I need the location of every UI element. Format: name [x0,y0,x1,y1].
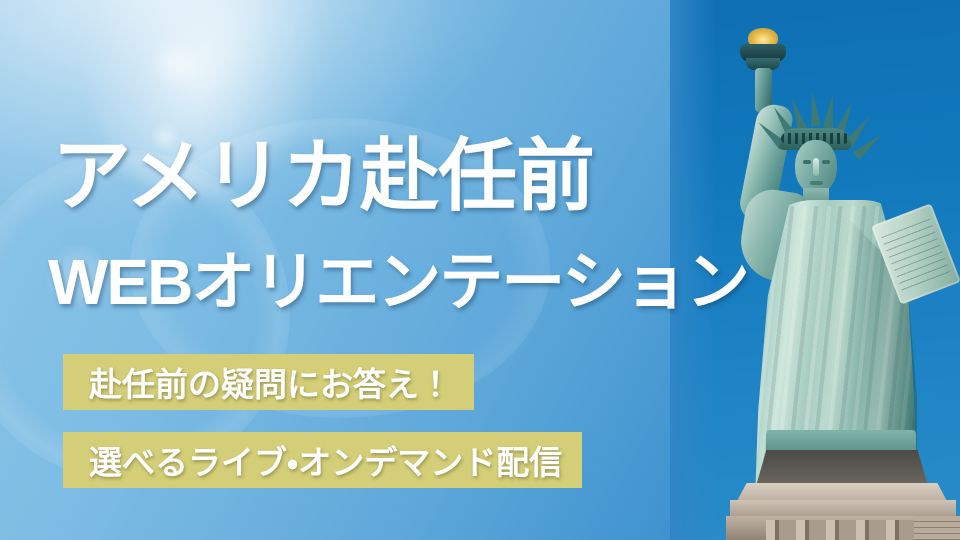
crown-spike-4 [807,92,820,127]
feature-badge-question: 赴任前の疑問にお答え！ [63,354,474,410]
page-subtitle: WEBオリエンテーション [48,250,748,314]
statue-mouth [810,181,823,185]
pedestal-green-base [766,430,916,452]
statue-eye-left [803,160,811,164]
pedestal-dark-block [756,450,928,486]
pedestal-stonework [914,516,960,540]
feature-badge-delivery: 選べるライブ・オンデマンド配信 [63,432,582,488]
statue-eye-right [822,160,830,164]
statue-nose [813,158,819,176]
pedestal-colonnade [766,520,916,540]
lens-flare-dot-a [150,38,202,90]
crown-spike-5 [823,94,838,129]
copy-block: アメリカ赴任前 WEBオリエンテーション 赴任前の疑問にお答え！ 選べるライブ・… [0,0,720,540]
promo-banner: アメリカ赴任前 WEBオリエンテーション 赴任前の疑問にお答え！ 選べるライブ・… [0,0,960,540]
page-title: アメリカ赴任前 [52,136,594,215]
